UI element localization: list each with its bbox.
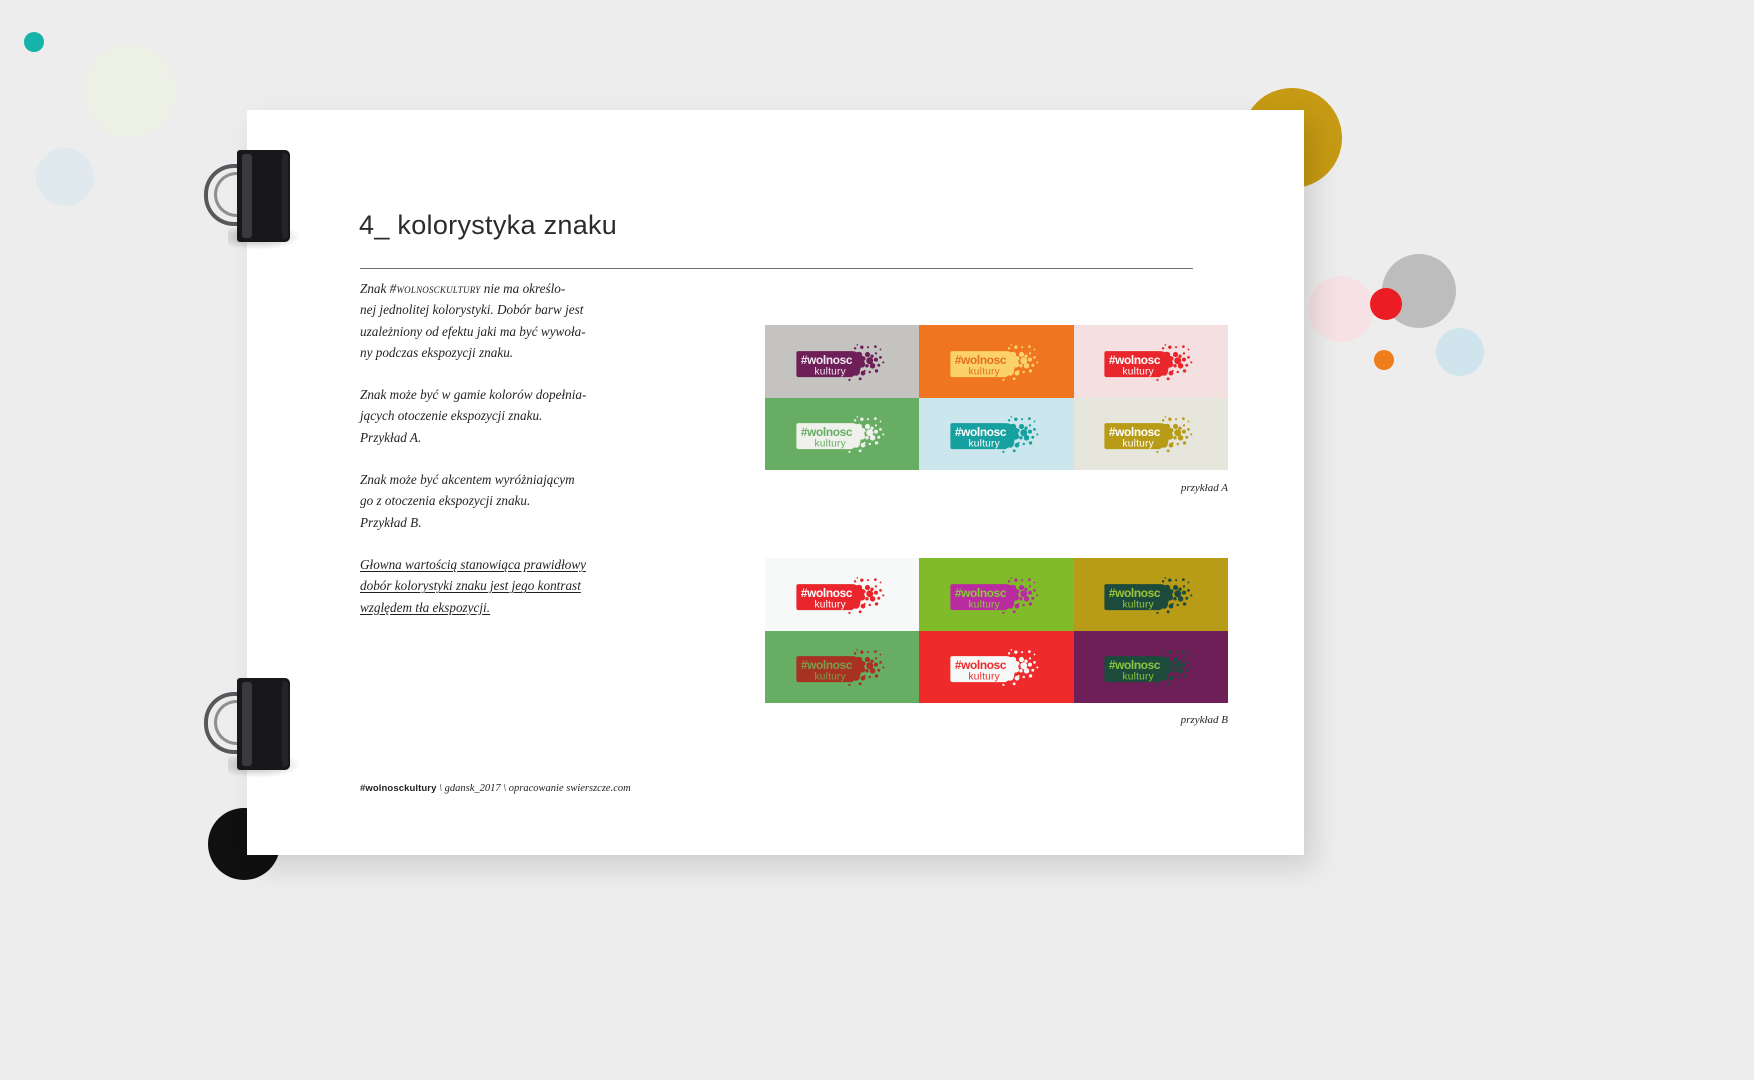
logo-splatter-dot (1002, 379, 1004, 381)
logo-line-1: #wolnosc (1109, 353, 1161, 367)
logo-splatter-dot (856, 577, 858, 579)
logo-splatter-dot (1175, 346, 1177, 348)
tile-b3: #wolnosckultury (1074, 558, 1228, 631)
logo-splatter-dot (1018, 370, 1020, 372)
logo-splatter-dot (875, 675, 878, 678)
logo-splatter-dot (1177, 676, 1179, 678)
logo-splatter-dot (1019, 585, 1024, 590)
logo-splatter-dot (882, 594, 884, 596)
copy-line: względem tła ekspozycji. (360, 600, 490, 615)
copy-line: Znak #wolnosckultury nie ma określo- (360, 281, 565, 296)
logo-splatter-dot (1157, 684, 1159, 686)
logo-splatter-dot (1019, 364, 1022, 367)
logo-splatter-dot (1172, 442, 1174, 444)
logo-splatter-dot (1011, 344, 1013, 346)
logo-line-2: kultury (969, 672, 1001, 683)
logo-splatter-dot (1157, 612, 1159, 614)
logo-splatter-dot (1191, 361, 1193, 363)
tile-a6: #wolnosckultury (1074, 398, 1228, 471)
logo-splatter-dot (879, 589, 882, 592)
logo-splatter-dot (1029, 585, 1031, 587)
logo-splatter-dot (1173, 657, 1178, 662)
logo-splatter-dot (875, 369, 878, 372)
paragraph-p2: Znak może być w gamie kolorów dopełnia-j… (360, 384, 592, 448)
logo-splatter-dot (1165, 577, 1167, 579)
logo-splatter-dot (1175, 419, 1177, 421)
logo-splatter-dot (874, 358, 878, 362)
logo-splatter-dot (1008, 580, 1010, 582)
logo-splatter-dot (1028, 430, 1032, 434)
logo-splatter-dot (877, 436, 880, 439)
logo-line-1: #wolnosc (955, 659, 1007, 673)
logo-splatter-dot (863, 603, 865, 605)
logo-splatter-dot (1021, 346, 1023, 348)
logo-line-2: kultury (1123, 672, 1155, 683)
logo-splatter-dot (1182, 358, 1186, 362)
logo-splatter-dot (1157, 379, 1159, 381)
logo-splatter-dot (875, 585, 877, 587)
circle-lightblue (1436, 328, 1484, 376)
logo-splatter-dot (1023, 676, 1025, 678)
logo-line-2: kultury (1123, 599, 1155, 610)
logo-line-1: #wolnosc (955, 353, 1007, 367)
logo-splatter-dot (1157, 451, 1159, 453)
logo-splatter-dot (1034, 654, 1036, 656)
tile-a1: #wolnosckultury (765, 325, 919, 398)
logo-splatter-dot (867, 419, 869, 421)
logo-splatter-dot (1167, 450, 1170, 453)
logo-splatter-dot (874, 663, 878, 667)
logo-line-1: #wolnosc (1109, 426, 1161, 440)
logo-splatter-dot (1031, 436, 1034, 439)
logo-splatter-dot (1024, 363, 1030, 369)
logo-splatter-dot (1182, 578, 1185, 581)
paragraph-p1: Znak #wolnosckultury nie ma określo-nej … (360, 278, 592, 363)
copy-line: Przykład B. (360, 515, 422, 530)
wolnosckultury-logo: #wolnosckultury (947, 574, 1046, 615)
logo-splatter-dot (1162, 347, 1164, 349)
logo-splatter-dot (848, 612, 850, 614)
logo-splatter-dot (1023, 604, 1025, 606)
wolnosckultury-logo: #wolnosckultury (793, 341, 892, 382)
logo-splatter-dot (875, 442, 878, 445)
logo-splatter-dot (1182, 418, 1185, 421)
logo-splatter-dot (1178, 363, 1184, 369)
logo-splatter-dot (1019, 597, 1022, 600)
logo-splatter-dot (1019, 436, 1022, 439)
logo-splatter-dot (1162, 653, 1164, 655)
logo-splatter-dot (1188, 421, 1190, 423)
logo-splatter-dot (1014, 578, 1017, 581)
page-footer: #wolnosckultury \ gdansk_2017 \ opracowa… (360, 783, 631, 794)
logo-splatter-dot (1183, 425, 1185, 427)
logo-line-1: #wolnosc (801, 659, 853, 673)
logo-splatter-dot (882, 361, 884, 363)
logo-splatter-dot (1002, 684, 1004, 686)
copy-line: go z otoczenia ekspozycji znaku. (360, 493, 530, 508)
caption-przyklad-a: przykład A (765, 482, 1228, 494)
logo-splatter-dot (1162, 580, 1164, 582)
circle-cream-large (84, 45, 176, 137)
logo-splatter-dot (1029, 675, 1032, 678)
logo-splatter-dot (867, 579, 869, 581)
circle-ice-blue (36, 148, 94, 206)
logo-splatter-dot (1182, 345, 1185, 348)
logo-splatter-dot (858, 683, 861, 686)
logo-splatter-dot (1034, 581, 1036, 583)
logo-splatter-dot (1191, 434, 1193, 436)
logo-splatter-dot (1183, 658, 1185, 660)
clip-body (237, 150, 290, 242)
logo-splatter-dot (870, 668, 876, 674)
logo-splatter-dot (1034, 421, 1036, 423)
logo-splatter-dot (1175, 579, 1177, 581)
tile-b6: #wolnosckultury (1074, 631, 1228, 704)
logo-splatter-dot (1177, 443, 1179, 445)
logo-splatter-dot (1019, 657, 1024, 662)
logo-splatter-dot (863, 370, 865, 372)
logo-splatter-dot (1177, 371, 1179, 373)
logo-splatter-dot (874, 430, 878, 434)
tile-a5: #wolnosckultury (919, 398, 1073, 471)
logo-splatter-dot (865, 424, 870, 429)
logo-splatter-dot (867, 652, 869, 654)
footer-meta: \ gdansk_2017 \ opracowanie swierszcze.c… (436, 783, 630, 794)
logo-splatter-dot (1183, 442, 1186, 445)
logo-splatter-dot (865, 597, 868, 600)
logo-splatter-dot (1014, 418, 1017, 421)
logo-splatter-dot (854, 420, 856, 422)
logo-splatter-dot (1036, 361, 1038, 363)
logo-splatter-dot (1011, 650, 1013, 652)
logo-splatter-dot (865, 364, 868, 367)
logo-splatter-dot (1178, 435, 1184, 441)
title-divider (360, 268, 1193, 269)
logo-splatter-dot (1188, 589, 1191, 592)
logo-splatter-dot (1008, 347, 1010, 349)
binder-clip-top (204, 150, 299, 242)
logo-splatter-dot (1169, 418, 1172, 421)
logo-line-2: kultury (1123, 439, 1155, 450)
wolnosckultury-logo: #wolnosckultury (1101, 646, 1200, 687)
logo-line-2: kultury (969, 599, 1001, 610)
logo-splatter-dot (874, 578, 877, 581)
logo-splatter-dot (1019, 424, 1024, 429)
logo-line-2: kultury (1123, 366, 1155, 377)
logo-splatter-dot (874, 591, 878, 595)
swatch-grid-a: #wolnosckultury#wolnosckultury#wolnoscku… (765, 325, 1228, 470)
logo-splatter-dot (877, 364, 880, 367)
logo-splatter-dot (1021, 419, 1023, 421)
brand-token: #wolnosckultury (390, 281, 481, 296)
logo-splatter-dot (1002, 612, 1004, 614)
circle-teal-small (24, 32, 44, 52)
logo-splatter-dot (1188, 348, 1190, 350)
logo-splatter-dot (1182, 430, 1186, 434)
logo-line-2: kultury (969, 366, 1001, 377)
binder-clip-bottom (204, 678, 299, 770)
logo-splatter-dot (1023, 371, 1025, 373)
tile-b5: #wolnosckultury (919, 631, 1073, 704)
logo-splatter-dot (865, 352, 870, 357)
logo-splatter-dot (870, 435, 876, 441)
logo-line-1: #wolnosc (801, 586, 853, 600)
logo-splatter-dot (1033, 589, 1036, 592)
logo-splatter-dot (858, 610, 861, 613)
logo-line-1: #wolnosc (801, 353, 853, 367)
logo-splatter-dot (858, 377, 861, 380)
logo-splatter-dot (1188, 581, 1190, 583)
logo-splatter-dot (1174, 597, 1177, 600)
logo-line-2: kultury (814, 672, 846, 683)
logo-splatter-dot (1033, 356, 1036, 359)
logo-splatter-dot (1024, 668, 1030, 674)
logo-splatter-dot (1191, 594, 1193, 596)
logo-splatter-dot (1165, 344, 1167, 346)
logo-splatter-dot (865, 585, 870, 590)
logo-splatter-dot (870, 596, 876, 602)
copy-line: Przykład A. (360, 430, 421, 445)
copy-line: uzależniony od efektu jaki ma być wywoła… (360, 324, 586, 339)
logo-splatter-dot (1186, 364, 1189, 367)
logo-splatter-dot (1014, 651, 1017, 654)
logo-splatter-dot (1169, 578, 1172, 581)
logo-splatter-dot (860, 345, 863, 348)
swatch-grid-b: #wolnosckultury#wolnosckultury#wolnoscku… (765, 558, 1228, 703)
logo-splatter-dot (874, 418, 877, 421)
clip-body (237, 678, 290, 770)
logo-line-1: #wolnosc (1109, 659, 1161, 673)
logo-splatter-dot (1186, 597, 1189, 600)
logo-splatter-dot (1011, 577, 1013, 579)
logo-splatter-dot (882, 434, 884, 436)
copy-line: dobór kolorystyki znaku jest jego kontra… (360, 578, 581, 593)
logo-splatter-dot (882, 667, 884, 669)
logo-splatter-dot (860, 578, 863, 581)
logo-splatter-dot (1188, 428, 1191, 431)
logo-splatter-dot (1024, 596, 1030, 602)
tile-b4: #wolnosckultury (765, 631, 919, 704)
logo-splatter-dot (1173, 352, 1178, 357)
logo-splatter-dot (877, 597, 880, 600)
logo-splatter-dot (879, 421, 881, 423)
paragraph-p3: Znak może być akcentem wyróżniającymgo z… (360, 469, 592, 533)
logo-line-2: kultury (814, 439, 846, 450)
logo-splatter-dot (1182, 591, 1186, 595)
logo-splatter-dot (1031, 597, 1034, 600)
logo-splatter-dot (875, 658, 877, 660)
logo-splatter-dot (865, 657, 870, 662)
tile-a3: #wolnosckultury (1074, 325, 1228, 398)
logo-splatter-dot (868, 443, 870, 445)
logo-splatter-dot (1178, 596, 1184, 602)
logo-line-1: #wolnosc (955, 586, 1007, 600)
logo-splatter-dot (1186, 669, 1189, 672)
logo-splatter-dot (1183, 585, 1185, 587)
logo-splatter-dot (1188, 356, 1191, 359)
logo-splatter-dot (1177, 604, 1179, 606)
logo-splatter-dot (1182, 663, 1186, 667)
logo-splatter-dot (879, 654, 881, 656)
logo-splatter-dot (860, 651, 863, 654)
wolnosckultury-logo: #wolnosckultury (793, 646, 892, 687)
logo-splatter-dot (1173, 585, 1178, 590)
logo-line-1: #wolnosc (1109, 586, 1161, 600)
logo-splatter-dot (856, 650, 858, 652)
logo-splatter-dot (1175, 652, 1177, 654)
logo-splatter-dot (1029, 425, 1031, 427)
wolnosckultury-logo: #wolnosckultury (1101, 413, 1200, 454)
logo-splatter-dot (1188, 661, 1191, 664)
logo-splatter-dot (1034, 348, 1036, 350)
logo-splatter-dot (875, 352, 877, 354)
logo-splatter-dot (1182, 651, 1185, 654)
wolnosckultury-logo: #wolnosckultury (947, 341, 1046, 382)
logo-splatter-dot (1031, 364, 1034, 367)
page-title: 4_ kolorystyka znaku (359, 210, 617, 241)
wolnosckultury-logo: #wolnosckultury (1101, 341, 1200, 382)
copy-line: Znak może być w gamie kolorów dopełnia- (360, 387, 586, 402)
logo-line-1: #wolnosc (955, 426, 1007, 440)
logo-splatter-dot (1183, 675, 1186, 678)
logo-splatter-dot (1013, 610, 1016, 613)
logo-splatter-dot (856, 417, 858, 419)
copy-line: nej jednolitej kolorystyki. Dobór barw j… (360, 302, 583, 317)
logo-splatter-dot (848, 451, 850, 453)
copy-line: ny podczas ekspozycji znaku. (360, 345, 513, 360)
circle-red (1370, 288, 1402, 320)
wolnosckultury-logo: #wolnosckultury (793, 413, 892, 454)
logo-splatter-dot (858, 450, 861, 453)
logo-splatter-dot (868, 676, 870, 678)
logo-splatter-dot (1008, 420, 1010, 422)
logo-splatter-dot (1169, 345, 1172, 348)
logo-line-1: #wolnosc (801, 426, 853, 440)
logo-splatter-dot (1029, 352, 1031, 354)
logo-splatter-dot (875, 602, 878, 605)
logo-splatter-dot (1008, 653, 1010, 655)
logo-splatter-dot (1167, 610, 1170, 613)
logo-splatter-dot (1029, 602, 1032, 605)
logo-splatter-dot (1174, 669, 1177, 672)
wolnosckultury-logo: #wolnosckultury (947, 413, 1046, 454)
logo-splatter-dot (863, 442, 865, 444)
logo-splatter-dot (1028, 418, 1031, 421)
paragraph-p4: Głowna wartością stanowiąca prawidłowydo… (360, 554, 592, 618)
logo-splatter-dot (879, 348, 881, 350)
document-page: 4_ kolorystyka znaku Znak #wolnosckultur… (247, 110, 1304, 855)
logo-splatter-dot (1172, 370, 1174, 372)
logo-splatter-dot (1174, 436, 1177, 439)
logo-splatter-dot (870, 363, 876, 369)
wolnosckultury-logo: #wolnosckultury (1101, 574, 1200, 615)
logo-splatter-dot (848, 684, 850, 686)
logo-splatter-dot (1021, 652, 1023, 654)
tile-a2: #wolnosckultury (919, 325, 1073, 398)
logo-splatter-dot (1018, 603, 1020, 605)
logo-splatter-dot (1165, 650, 1167, 652)
caption-przyklad-b: przykład B (765, 714, 1228, 726)
logo-splatter-dot (1174, 364, 1177, 367)
logo-splatter-dot (1013, 377, 1016, 380)
logo-splatter-dot (854, 347, 856, 349)
logo-splatter-dot (1028, 651, 1031, 654)
logo-splatter-dot (1028, 578, 1031, 581)
logo-splatter-dot (1028, 591, 1032, 595)
logo-splatter-dot (865, 436, 868, 439)
logo-splatter-dot (1186, 436, 1189, 439)
logo-splatter-dot (1191, 667, 1193, 669)
logo-splatter-dot (1183, 369, 1186, 372)
logo-splatter-dot (856, 344, 858, 346)
logo-splatter-dot (848, 379, 850, 381)
logo-splatter-dot (1167, 683, 1170, 686)
logo-splatter-dot (1172, 675, 1174, 677)
logo-splatter-dot (1028, 345, 1031, 348)
wolnosckultury-logo: #wolnosckultury (793, 574, 892, 615)
logo-splatter-dot (867, 346, 869, 348)
logo-splatter-dot (1018, 442, 1020, 444)
logo-splatter-dot (1183, 352, 1185, 354)
logo-line-2: kultury (814, 366, 846, 377)
logo-splatter-dot (1021, 579, 1023, 581)
copy-line: jących otoczenie ekspozycji znaku. (360, 408, 542, 423)
logo-splatter-dot (1173, 424, 1178, 429)
logo-splatter-dot (1013, 450, 1016, 453)
logo-splatter-dot (877, 669, 880, 672)
logo-splatter-dot (1029, 658, 1031, 660)
logo-line-2: kultury (969, 439, 1001, 450)
logo-line-2: kultury (814, 599, 846, 610)
logo-splatter-dot (1011, 417, 1013, 419)
logo-splatter-dot (1162, 420, 1164, 422)
logo-splatter-dot (1036, 434, 1038, 436)
logo-splatter-dot (1023, 443, 1025, 445)
logo-splatter-dot (1036, 667, 1038, 669)
circle-orange-dot (1374, 350, 1394, 370)
logo-splatter-dot (879, 356, 882, 359)
logo-splatter-dot (1183, 602, 1186, 605)
copy-line: Głowna wartością stanowiąca prawidłowy (360, 557, 586, 572)
logo-splatter-dot (874, 345, 877, 348)
logo-splatter-dot (868, 604, 870, 606)
logo-splatter-dot (1172, 603, 1174, 605)
logo-splatter-dot (860, 418, 863, 421)
logo-splatter-dot (854, 580, 856, 582)
logo-splatter-dot (1169, 651, 1172, 654)
logo-splatter-dot (1167, 377, 1170, 380)
logo-splatter-dot (1029, 369, 1032, 372)
logo-splatter-dot (1031, 669, 1034, 672)
logo-splatter-dot (879, 428, 882, 431)
logo-splatter-dot (875, 425, 877, 427)
logo-splatter-dot (1019, 669, 1022, 672)
logo-splatter-dot (1028, 663, 1032, 667)
logo-splatter-dot (1028, 358, 1032, 362)
logo-splatter-dot (874, 651, 877, 654)
logo-splatter-dot (879, 581, 881, 583)
logo-splatter-dot (1165, 417, 1167, 419)
tile-b2: #wolnosckultury (919, 558, 1073, 631)
logo-splatter-dot (1178, 668, 1184, 674)
logo-splatter-dot (1014, 345, 1017, 348)
copy-line: Znak może być akcentem wyróżniającym (360, 472, 575, 487)
logo-splatter-dot (1013, 683, 1016, 686)
logo-splatter-dot (1033, 661, 1036, 664)
logo-splatter-dot (1036, 594, 1038, 596)
logo-splatter-dot (1002, 451, 1004, 453)
wolnosckultury-logo: #wolnosckultury (947, 646, 1046, 687)
